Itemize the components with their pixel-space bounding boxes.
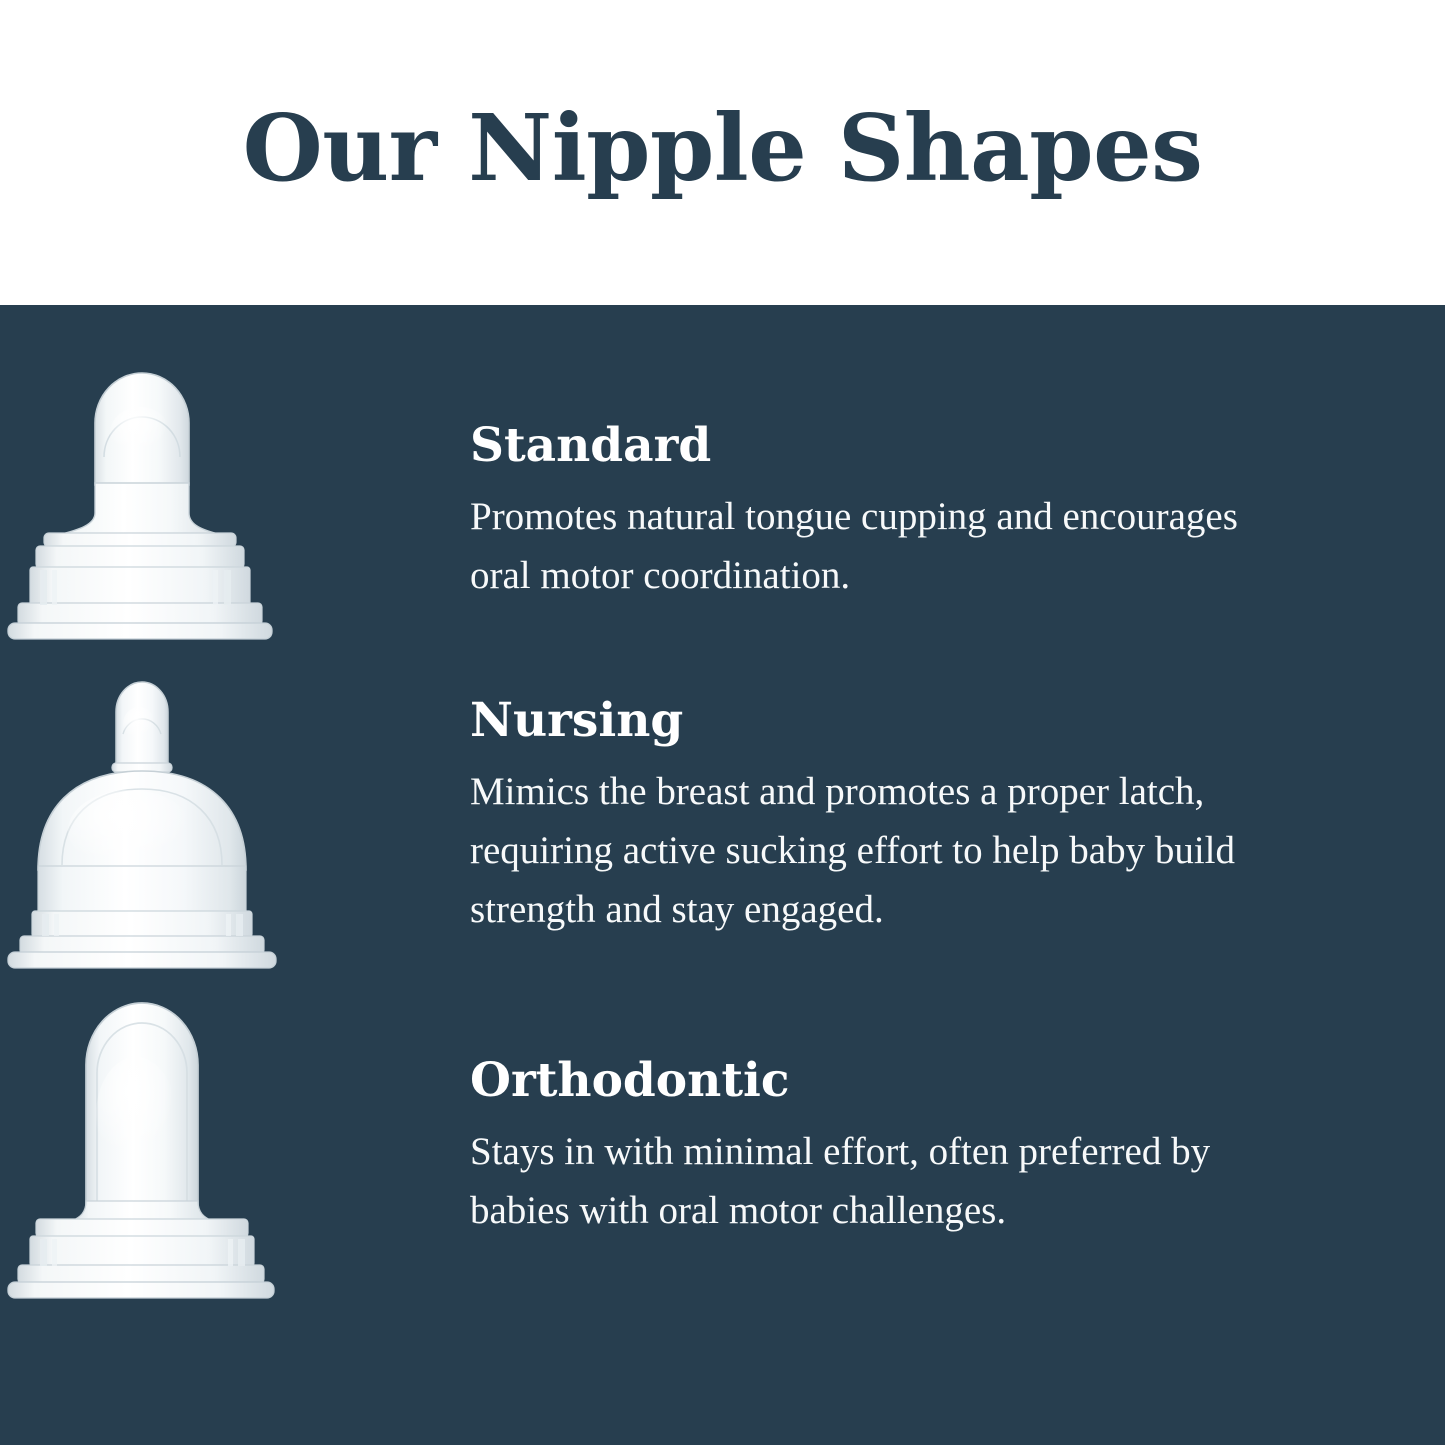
shape-list: Standard Promotes natural tongue cupping… — [0, 305, 1445, 1445]
infographic-page: Our Nipple Shapes — [0, 0, 1445, 1445]
item-title-standard: Standard — [470, 420, 1325, 473]
list-item-standard: Standard Promotes natural tongue cupping… — [0, 365, 1445, 665]
list-item-orthodontic: Orthodontic Stays in with minimal effort… — [0, 995, 1445, 1320]
list-item-nursing: Nursing Mimics the breast and promotes a… — [0, 670, 1445, 985]
nursing-nipple-image — [0, 670, 470, 985]
item-title-nursing: Nursing — [470, 695, 1325, 748]
item-description-orthodontic: Stays in with minimal effort, often pref… — [470, 1122, 1300, 1241]
header-band: Our Nipple Shapes — [0, 0, 1445, 305]
standard-figure — [0, 365, 470, 665]
standard-nipple-image — [0, 365, 470, 665]
page-title: Our Nipple Shapes — [243, 102, 1203, 204]
item-title-orthodontic: Orthodontic — [470, 1055, 1325, 1108]
nursing-figure — [0, 670, 470, 985]
standard-copy: Standard Promotes natural tongue cupping… — [470, 365, 1445, 605]
orthodontic-copy: Orthodontic Stays in with minimal effort… — [470, 995, 1445, 1240]
orthodontic-figure — [0, 995, 470, 1320]
item-description-standard: Promotes natural tongue cupping and enco… — [470, 487, 1300, 606]
item-description-nursing: Mimics the breast and promotes a proper … — [470, 762, 1300, 940]
orthodontic-nipple-image — [0, 995, 470, 1320]
nursing-copy: Nursing Mimics the breast and promotes a… — [470, 670, 1445, 939]
content-panel: Standard Promotes natural tongue cupping… — [0, 305, 1445, 1445]
